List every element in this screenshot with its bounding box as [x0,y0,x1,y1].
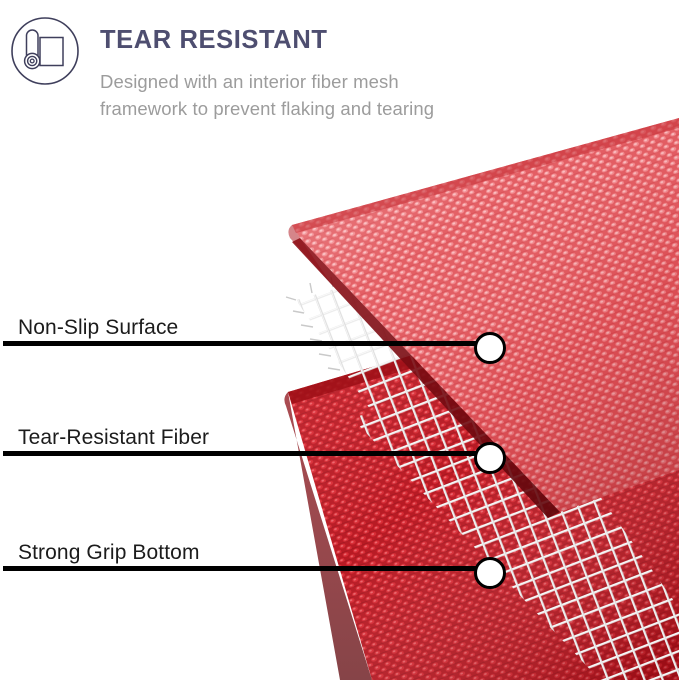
callout-label: Tear-Resistant Fiber [18,427,209,448]
page-title: TEAR RESISTANT [100,25,500,55]
callout-label: Non-Slip Surface [18,317,178,338]
callout-strong-grip-bottom: Strong Grip Bottom [0,525,679,585]
header-text-block: TEAR RESISTANT Designed with an interior… [100,25,500,123]
feature-description: Designed with an interior fiber mesh fra… [100,69,440,123]
callout-label: Strong Grip Bottom [18,542,200,563]
callout-dot [474,332,506,364]
icon-mat-sheet [40,38,63,66]
callout-dot [474,557,506,589]
callout-leader-line [3,566,482,571]
callout-non-slip-surface: Non-Slip Surface [0,300,679,360]
callout-dot [474,442,506,474]
callout-leader-line [3,341,482,346]
callout-leader-line [3,451,482,456]
callout-tear-resistant-fiber: Tear-Resistant Fiber [0,410,679,470]
icon-roll-top [27,30,39,35]
icon-roll-end [25,53,40,68]
icon-circle-outline [12,18,78,84]
header-block: TEAR RESISTANT Designed with an interior… [0,0,679,170]
rolled-mat-icon [10,16,80,86]
